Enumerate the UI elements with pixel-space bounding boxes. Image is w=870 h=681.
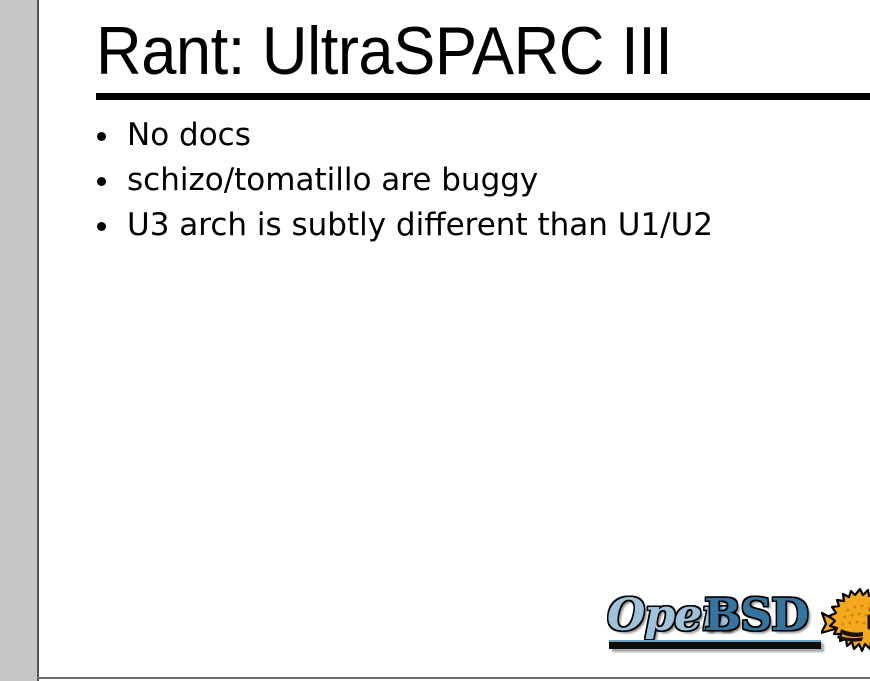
bullet-dot-icon: [97, 222, 106, 231]
list-item: No docs: [96, 113, 870, 158]
bullet-dot-icon: [97, 132, 106, 141]
presentation-slide: Rant: UltraSPARC III No docs schizo/toma…: [0, 0, 870, 681]
slide-canvas: Rant: UltraSPARC III No docs schizo/toma…: [39, 0, 870, 678]
puffy-blowfish-icon: [821, 586, 870, 664]
page-title: Rant: UltraSPARC III: [96, 14, 672, 88]
wordmark-underbar: [609, 640, 821, 649]
canvas-bottom-border: [37, 677, 870, 679]
wordmark-bsd-text: BSD: [704, 592, 808, 640]
list-item: schizo/tomatillo are buggy: [96, 158, 870, 203]
list-item: U3 arch is subtly different than U1/U2: [96, 203, 870, 248]
list-item-label: No docs: [127, 117, 251, 153]
openbsd-wordmark: Open BSD: [605, 592, 823, 650]
bullet-dot-icon: [97, 177, 106, 186]
list-item-label: schizo/tomatillo are buggy: [127, 162, 538, 198]
title-underline-rule: [96, 93, 870, 100]
slide-left-rail: [0, 0, 37, 681]
openbsd-logo: Open BSD: [605, 586, 870, 664]
list-item-label: U3 arch is subtly different than U1/U2: [127, 207, 713, 243]
bullet-list: No docs schizo/tomatillo are buggy U3 ar…: [96, 113, 870, 248]
